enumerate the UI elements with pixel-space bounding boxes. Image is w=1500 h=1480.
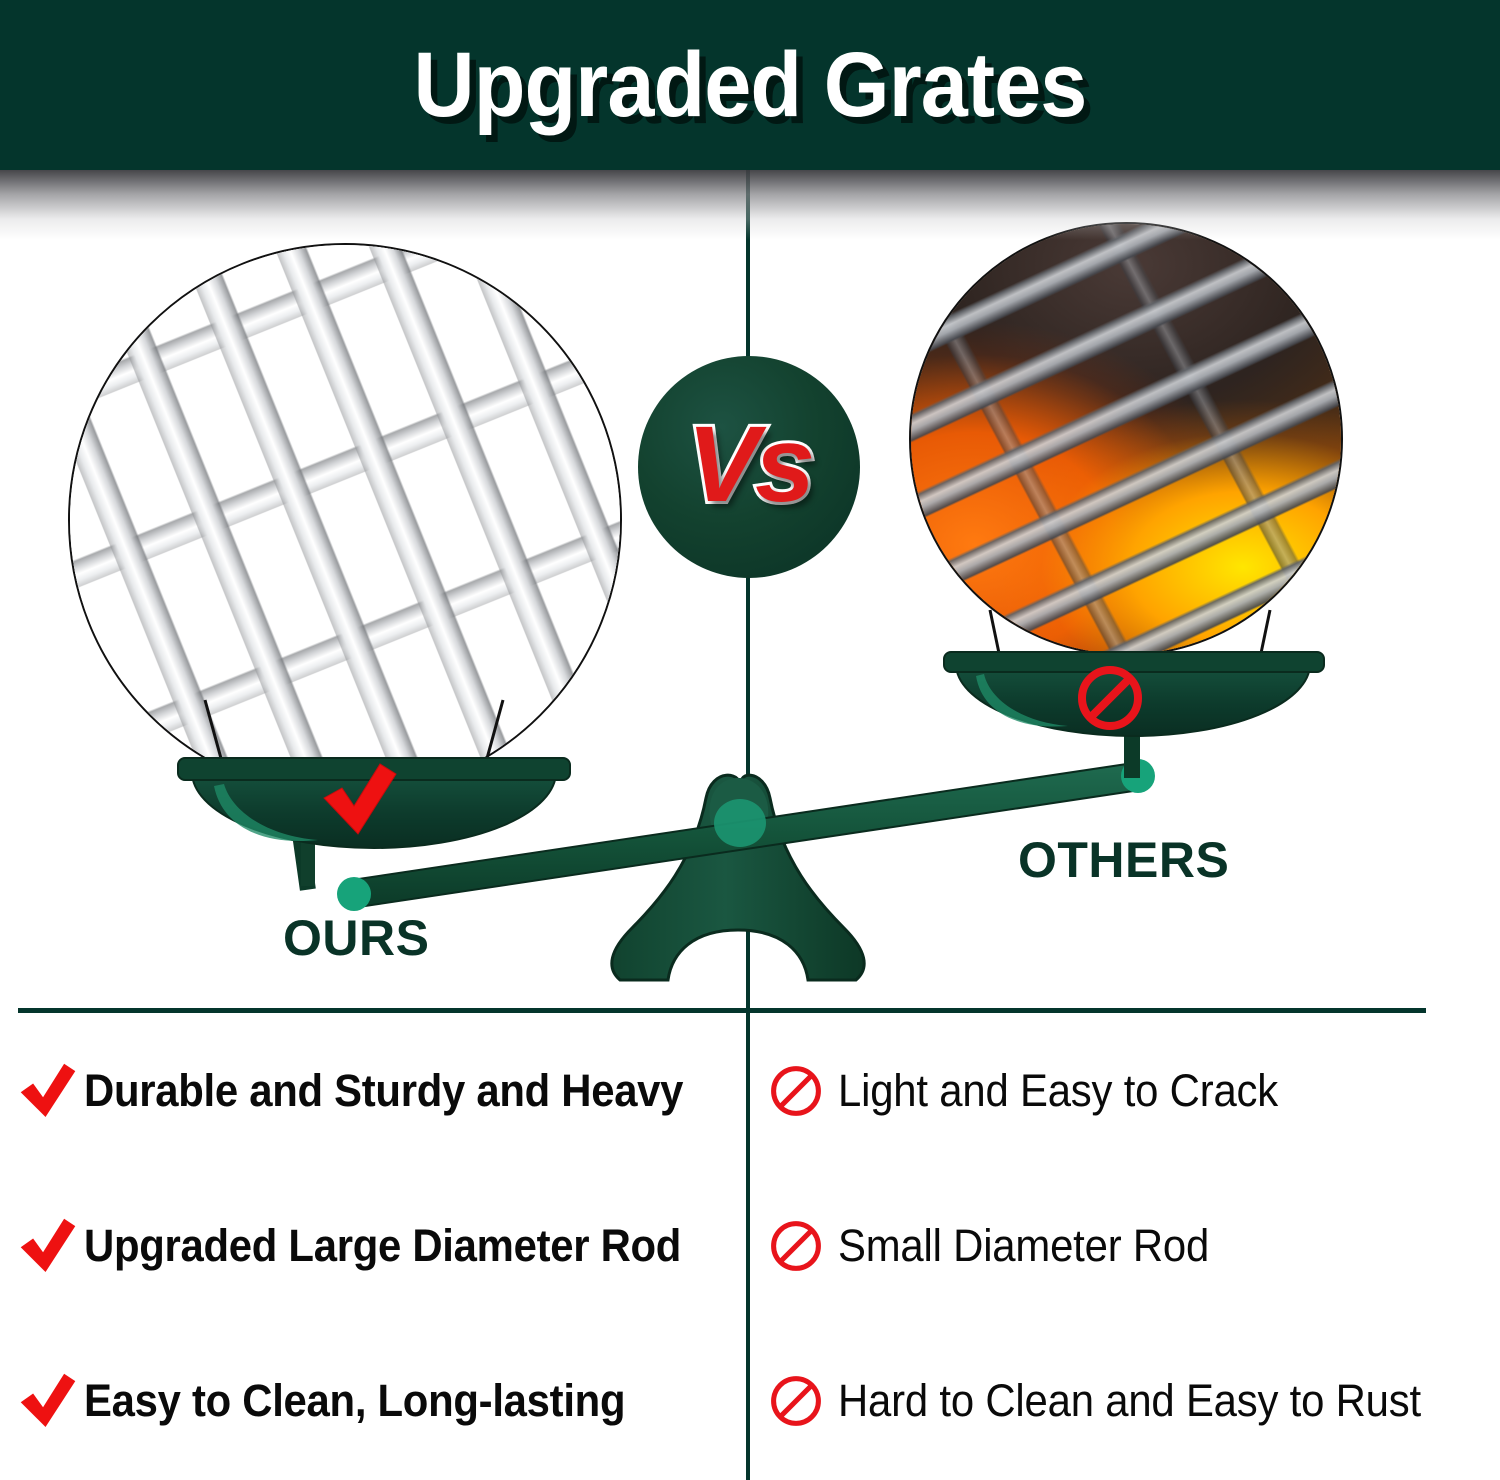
- check-icon: [14, 1212, 82, 1280]
- page-title: Upgraded Grates: [60, 0, 1440, 170]
- stainless-grate-texture: [68, 243, 622, 797]
- check-icon: [14, 1367, 82, 1435]
- feature-row: Upgraded Large Diameter Rod Small Diamet…: [0, 1168, 1500, 1323]
- others-pan: [944, 652, 1324, 778]
- feature-text-others: Light and Easy to Crack: [838, 1065, 1278, 1117]
- feature-cell-others: Small Diameter Rod: [746, 1168, 1500, 1323]
- feature-row: Easy to Clean, Long-lasting Hard to Clea…: [0, 1323, 1500, 1478]
- comparison-infographic: Upgraded Grates Vs: [0, 0, 1500, 1480]
- prohibition-icon: [762, 1367, 830, 1435]
- prohibition-icon: [762, 1057, 830, 1125]
- feature-text-others: Hard to Clean and Easy to Rust: [838, 1375, 1421, 1427]
- feature-text-ours: Upgraded Large Diameter Rod: [84, 1220, 681, 1272]
- feature-cell-ours: Easy to Clean, Long-lasting: [0, 1323, 746, 1478]
- feature-cell-others: Hard to Clean and Easy to Rust: [746, 1323, 1500, 1478]
- feature-cell-ours: Durable and Sturdy and Heavy: [0, 1013, 746, 1168]
- prohibition-icon: [1082, 670, 1138, 726]
- feature-comparison-table: Durable and Sturdy and Heavy Light and E…: [0, 1013, 1500, 1480]
- rusty-grate-flames-texture: [909, 222, 1343, 656]
- header-banner: Upgraded Grates: [0, 0, 1500, 170]
- vs-badge: Vs: [638, 356, 860, 578]
- others-product-image: [909, 222, 1343, 656]
- feature-cell-ours: Upgraded Large Diameter Rod: [0, 1168, 746, 1323]
- feature-text-others: Small Diameter Rod: [838, 1220, 1209, 1272]
- vs-label: Vs: [687, 401, 811, 526]
- feature-text-ours: Easy to Clean, Long-lasting: [84, 1375, 625, 1427]
- prohibition-icon: [762, 1212, 830, 1280]
- feature-cell-others: Light and Easy to Crack: [746, 1013, 1500, 1168]
- feature-text-ours: Durable and Sturdy and Heavy: [84, 1065, 683, 1117]
- check-icon: [14, 1057, 82, 1125]
- ours-product-image: [68, 243, 622, 797]
- others-label: OTHERS: [1018, 831, 1229, 889]
- scale-fulcrum-base: [612, 775, 864, 980]
- ours-label: OURS: [283, 909, 429, 967]
- feature-row: Durable and Sturdy and Heavy Light and E…: [0, 1013, 1500, 1168]
- header-shadow-gradient: [0, 170, 1500, 240]
